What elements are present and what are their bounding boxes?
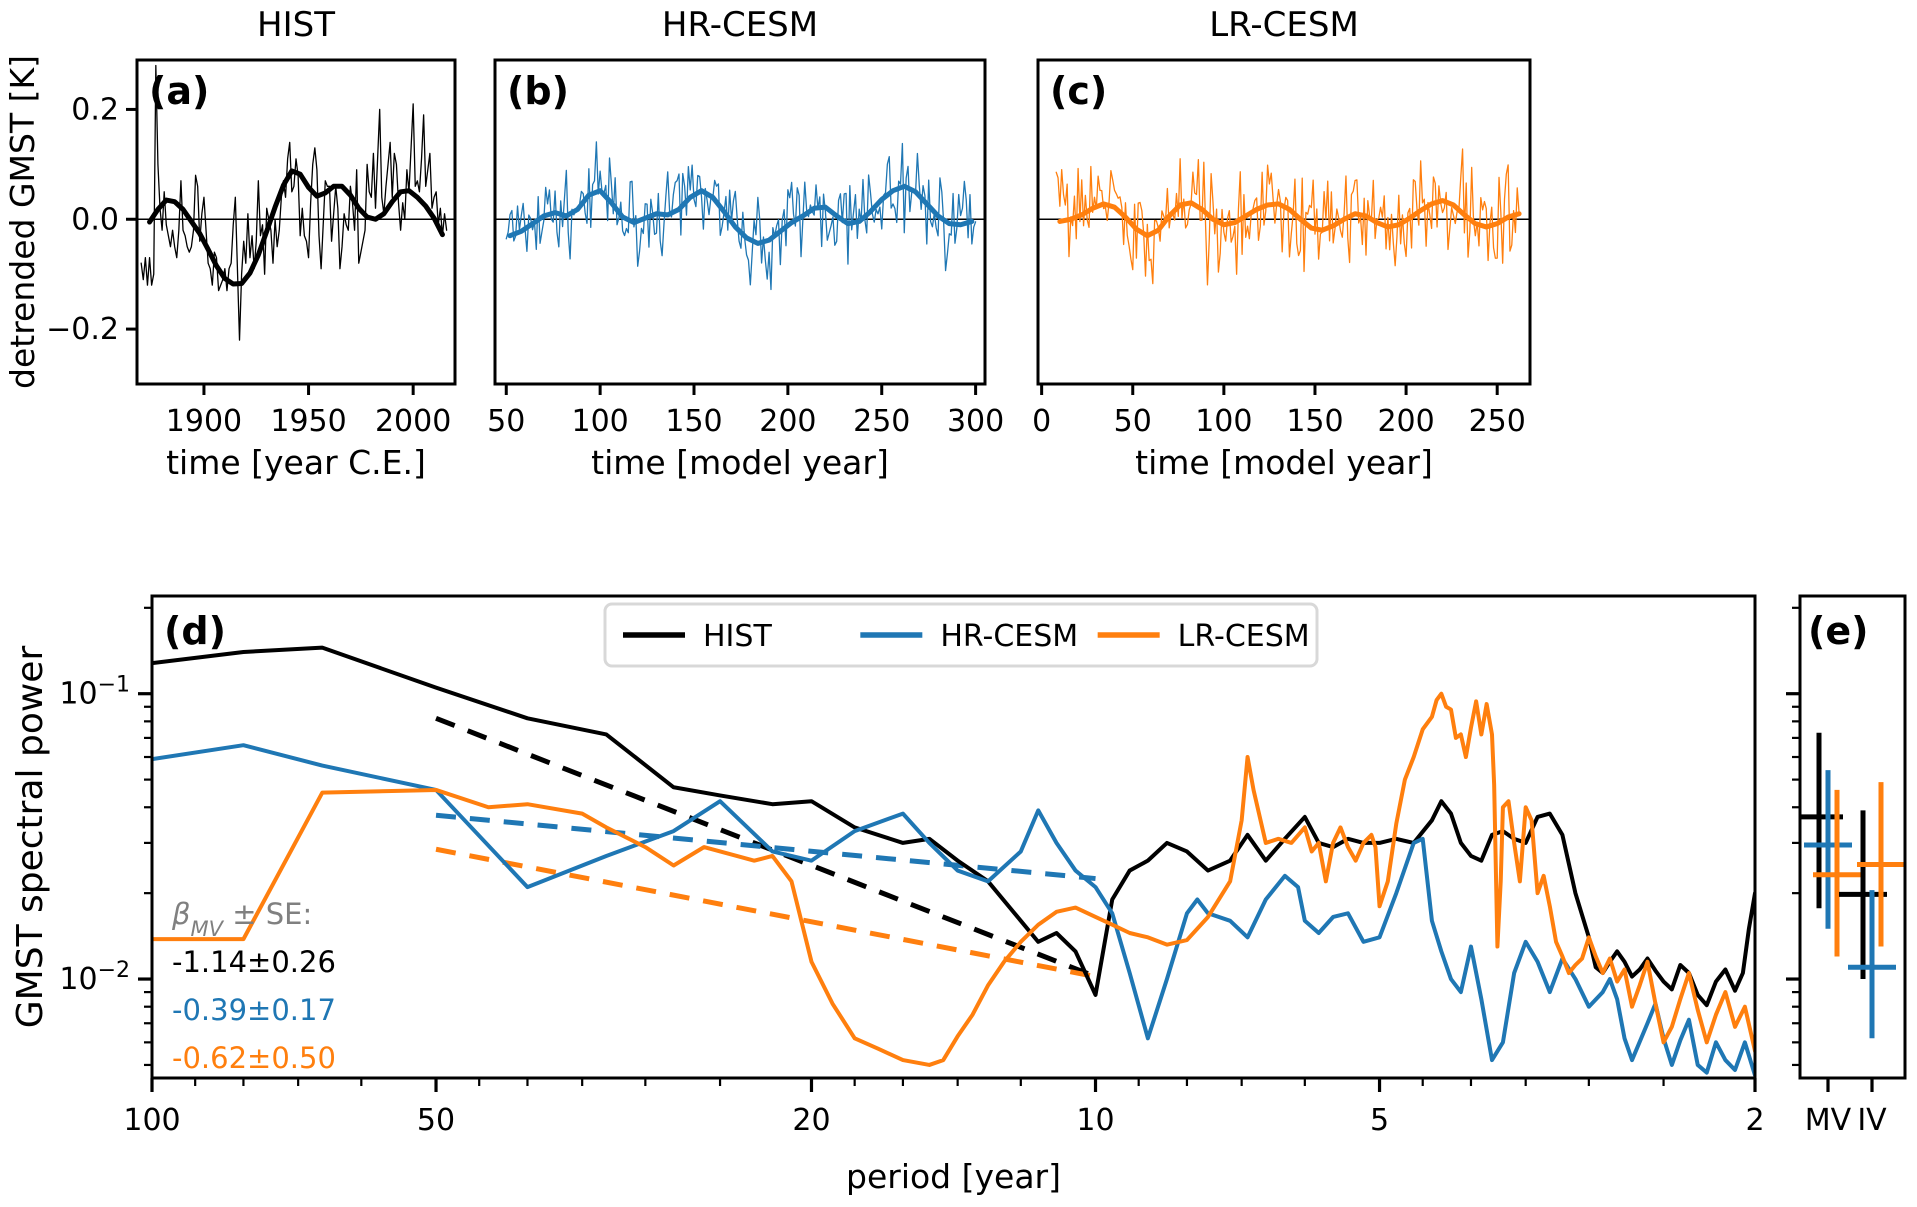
legend: HISTHR-CESMLR-CESM [605,604,1317,666]
figure-canvas: HIST(a)190019502000time [year C.E.]−0.20… [0,0,1917,1207]
xtick-label: 20 [792,1103,830,1138]
xtick-label: 250 [1469,404,1526,439]
beta-value-0: -1.14±0.26 [172,945,336,979]
panel-c: LR-CESM(c)050100150200250time [model yea… [1032,5,1530,482]
xtick-label: 50 [417,1103,455,1138]
panel-a-title: HIST [257,5,335,45]
panel-c-letter: (c) [1050,69,1107,113]
panel-d-letter: (d) [164,609,226,653]
panel-a-letter: (a) [149,69,209,113]
xtick-label: 10 [1076,1103,1114,1138]
xtick-label: 250 [853,404,910,439]
xtick-label: 200 [1377,404,1434,439]
spectrum-LR-CESM [152,694,1755,1065]
xtick-label: 1950 [270,404,346,439]
ytick-label: 0.0 [71,202,119,237]
panel-d: (d)10050201052period [year]10−110−2GMST … [10,596,1765,1196]
xtick-label: 1900 [166,404,242,439]
series-lowpass [150,171,443,284]
beta-value-2: -0.62±0.50 [172,1041,336,1075]
panel-b: HR-CESM(b)50100150200250300time [model y… [487,5,1004,482]
panel-a-xlabel: time [year C.E.] [166,443,426,482]
panel-a-ylabel: detrended GMST [K] [3,55,42,389]
legend-label-LR-CESM: LR-CESM [1178,619,1310,654]
beta-value-1: -0.39±0.17 [172,993,336,1027]
xtick-label: 200 [759,404,816,439]
xtick-label: 100 [123,1103,180,1138]
spectrum-HR-CESM [152,745,1755,1075]
figure-root: HIST(a)190019502000time [year C.E.]−0.20… [0,0,1917,1207]
panel-e-letter: (e) [1808,609,1869,653]
legend-label-HIST: HIST [703,619,772,654]
panel-d-xlabel: period [year] [846,1157,1061,1196]
ytick-label: 0.2 [71,92,119,127]
axes-frame [1800,596,1905,1078]
panel-c-title: LR-CESM [1209,5,1359,45]
panel-b-title: HR-CESM [662,5,818,45]
xtick-label-IV: IV [1857,1103,1887,1138]
panel-a: HIST(a)190019502000time [year C.E.]−0.20… [3,5,455,482]
xtick-label: 150 [1286,404,1343,439]
legend-label-HR-CESM: HR-CESM [940,619,1078,654]
panel-c-xlabel: time [model year] [1135,443,1433,482]
series-lowpass [510,186,972,243]
xtick-label-MV: MV [1805,1103,1852,1138]
beta-annotation: βMV ± SE:-1.14±0.26-0.39±0.17-0.62±0.50 [171,897,336,1075]
ytick-label: 10−2 [59,958,130,998]
xtick-label: 300 [947,404,1004,439]
xtick-label: 100 [1195,404,1252,439]
xtick-label: 0 [1032,404,1051,439]
panel-e: (e)MVIV [1786,596,1905,1138]
ytick-label: −0.2 [46,312,119,347]
panel-b-xlabel: time [model year] [591,443,889,482]
xtick-label: 100 [572,404,629,439]
xtick-label: 5 [1370,1103,1389,1138]
panel-d-ylabel: GMST spectral power [10,646,51,1029]
series-annual [506,142,975,290]
xtick-label: 50 [487,404,525,439]
panel-b-letter: (b) [507,69,569,113]
xtick-label: 2000 [375,404,451,439]
ytick-label: 10−1 [59,672,130,712]
xtick-label: 2 [1745,1103,1764,1138]
xtick-label: 150 [665,404,722,439]
xtick-label: 50 [1114,404,1152,439]
beta-annotation-header: βMV ± SE: [171,897,312,941]
